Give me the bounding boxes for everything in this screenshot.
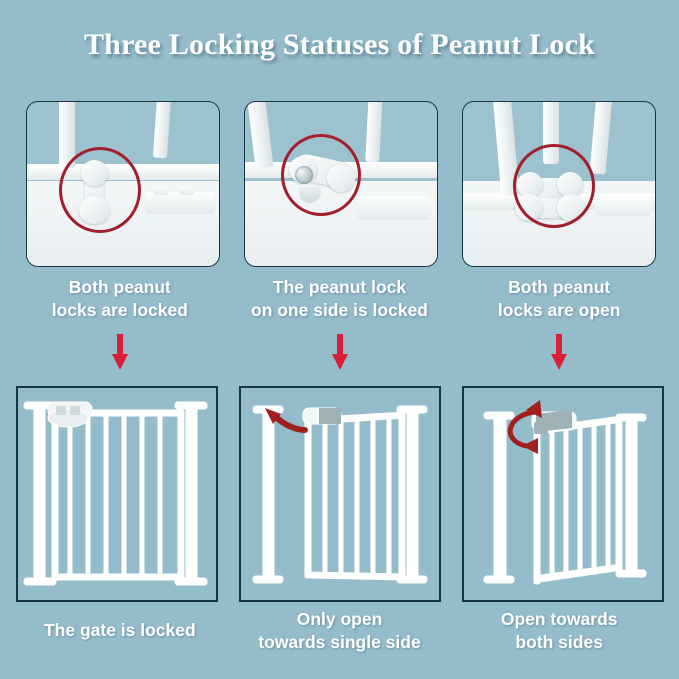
gate-latch-block xyxy=(145,192,215,214)
arrow-down-icon xyxy=(551,334,567,370)
gate-latch-block xyxy=(357,196,431,220)
page-title: Three Locking Statuses of Peanut Lock xyxy=(0,28,679,62)
caption-both-open: Both peanut locks are open xyxy=(449,276,669,324)
gate-panel-both-sides xyxy=(462,386,664,602)
arrow-head xyxy=(112,354,128,370)
caption-gate-locked: The gate is locked xyxy=(10,608,230,660)
gate-latch-nub-a xyxy=(153,186,169,195)
infographic-page: Three Locking Statuses of Peanut Lock xyxy=(0,0,679,679)
flow-arrow-row xyxy=(10,334,669,374)
gate-state-row xyxy=(16,386,664,602)
caption-both-locked: Both peanut locks are locked xyxy=(10,276,230,324)
gate-vertical-post-right xyxy=(590,101,613,175)
gate-state-caption-row: The gate is locked Only open towards sin… xyxy=(10,608,669,660)
arrow-down-icon xyxy=(332,334,348,370)
swing-arrow-head-down xyxy=(522,438,538,454)
highlight-circle-icon xyxy=(59,147,141,233)
lock-status-photo-row xyxy=(26,101,656,267)
gate-vertical-post-right xyxy=(153,101,171,158)
photo-panel-both-locked xyxy=(26,101,220,267)
photo-panel-both-open xyxy=(462,101,656,267)
arrow-down-icon xyxy=(112,334,128,370)
arrow-cell-2 xyxy=(230,334,450,374)
arrow-shaft xyxy=(556,334,562,356)
arrow-shaft xyxy=(337,334,343,356)
gate-closed-illustration xyxy=(18,388,216,600)
gate-latch-nub-b xyxy=(179,186,195,195)
arrow-cell-1 xyxy=(10,334,230,374)
caption-gate-single-side: Only open towards single side xyxy=(230,608,450,660)
gate-panel-locked xyxy=(16,386,218,602)
highlight-circle-icon xyxy=(513,144,595,228)
arrow-head xyxy=(551,354,567,370)
highlight-circle-icon xyxy=(281,134,361,216)
arrow-shaft xyxy=(117,334,123,356)
gate-open-one-side-illustration xyxy=(241,388,439,600)
gate-latch-block xyxy=(595,198,651,216)
gate-panel-single-side xyxy=(239,386,441,602)
swing-arrow-path xyxy=(275,416,305,430)
gate-vertical-post-left xyxy=(246,101,273,169)
arrow-head xyxy=(332,354,348,370)
caption-one-side-locked: The peanut lock on one side is locked xyxy=(230,276,450,324)
lock-status-caption-row: Both peanut locks are locked The peanut … xyxy=(10,276,669,324)
photo-panel-one-side-locked xyxy=(244,101,438,267)
caption-gate-both-sides: Open towards both sides xyxy=(449,608,669,660)
arrow-cell-3 xyxy=(449,334,669,374)
gate-vertical-post-right xyxy=(365,101,383,162)
gate-open-both-sides-illustration xyxy=(464,388,662,600)
